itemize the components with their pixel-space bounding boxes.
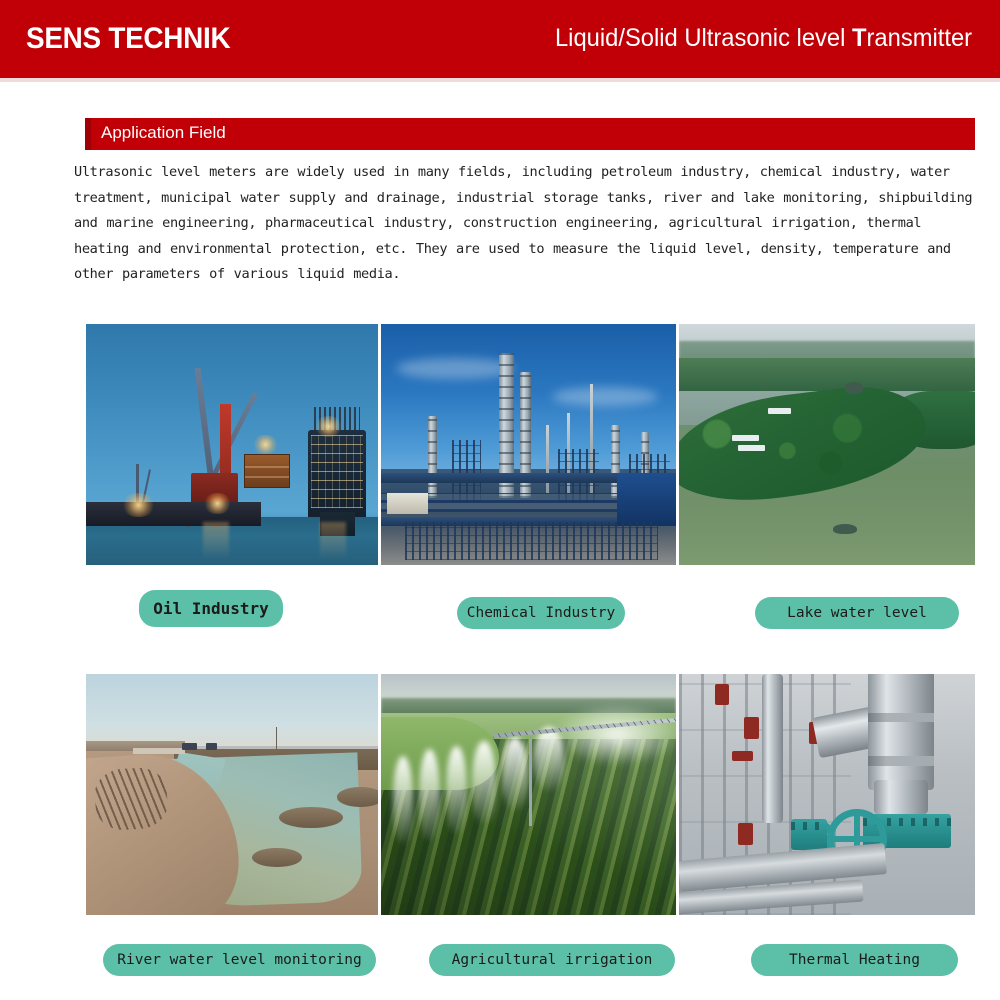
oil-platform-lights xyxy=(311,435,362,508)
oil-light-glow-4 xyxy=(314,416,343,438)
caption-pill-thermal-heating: Thermal Heating xyxy=(751,944,958,976)
caption-pill-river-monitoring: River water level monitoring xyxy=(103,944,376,976)
thermal-vertical-pipe xyxy=(762,674,783,823)
lake-boat-1 xyxy=(768,408,792,414)
caption-pill-agricultural-irrigation: Agricultural irrigation xyxy=(429,944,675,976)
chemical-refinery-photo xyxy=(381,324,676,565)
lake-aerial-photo xyxy=(679,324,975,565)
irrigation-mist-cloud xyxy=(552,703,676,766)
oil-lifted-module xyxy=(244,454,291,488)
lake-islet xyxy=(845,382,863,394)
caption-pill-lake-water-level: Lake water level xyxy=(755,597,959,629)
header-bottom-rule xyxy=(0,78,1000,82)
oil-water-reflection-1 xyxy=(203,522,229,561)
thermal-reducer xyxy=(874,780,927,814)
lake-small-vessel xyxy=(833,524,857,534)
refinery-white-tank xyxy=(387,493,428,515)
oil-light-glow-2 xyxy=(203,493,232,515)
thermal-pipe-band-1 xyxy=(868,713,933,723)
oil-platform-structure xyxy=(308,430,366,517)
irrigation-spray-1 xyxy=(393,756,414,843)
thermal-valve-body-small xyxy=(791,819,827,850)
page-title-bold-letter: T xyxy=(852,24,867,52)
refinery-blue-building xyxy=(617,473,676,526)
caption-pill-oil-industry: Oil Industry xyxy=(139,590,283,627)
oil-light-glow-1 xyxy=(121,493,156,517)
irrigation-pivot-leg xyxy=(529,739,532,826)
refinery-cloud-2 xyxy=(552,387,658,406)
page-root: SENS TECHNIK Liquid/Solid Ultrasonic lev… xyxy=(0,0,1000,1000)
thermal-heating-pipes-photo xyxy=(679,674,975,915)
thermal-red-valve-4 xyxy=(738,823,753,845)
river-vehicle-2 xyxy=(206,743,218,750)
thermal-red-valve-1 xyxy=(715,684,730,706)
oil-barge-hull xyxy=(86,502,261,526)
river-utility-pole xyxy=(276,727,277,749)
section-bar-accent xyxy=(85,118,91,150)
river-sandbar-1 xyxy=(279,807,343,829)
thermal-pipe-band-2 xyxy=(868,756,933,766)
page-title-suffix: ransmitter xyxy=(866,24,972,52)
oil-water-reflection-2 xyxy=(320,522,346,561)
river-sandbar-2 xyxy=(252,848,302,867)
irrigation-spray-4 xyxy=(472,741,496,823)
thermal-red-valve-2 xyxy=(744,717,759,739)
application-field-paragraph: Ultrasonic level meters are widely used … xyxy=(74,160,984,288)
lake-boat-3 xyxy=(738,445,765,451)
river-vehicle-1 xyxy=(182,743,197,750)
center-pivot-irrigation-photo xyxy=(381,674,676,915)
section-title: Application Field xyxy=(101,123,226,143)
refinery-column-3 xyxy=(428,416,437,498)
oil-light-glow-3 xyxy=(252,435,278,454)
refinery-ground-structures xyxy=(405,522,659,561)
river-sky xyxy=(86,674,378,746)
thermal-red-label xyxy=(732,751,753,761)
irrigation-spray-3 xyxy=(446,746,467,833)
irrigation-spray-2 xyxy=(419,749,440,841)
page-title: Liquid/Solid Ultrasonic level Transmitte… xyxy=(555,24,972,53)
caption-pill-chemical-industry: Chemical Industry xyxy=(457,597,625,629)
thermal-main-riser xyxy=(868,674,933,790)
section-header-bar: Application Field xyxy=(85,118,975,150)
irrigation-spray-5 xyxy=(502,737,529,809)
brand-logo-text: SENS TECHNIK xyxy=(26,22,230,56)
page-title-prefix: Liquid/Solid Ultrasonic level xyxy=(555,24,852,52)
lake-boat-2 xyxy=(732,435,759,441)
river-bridge xyxy=(133,748,186,754)
river-sandbar-3 xyxy=(337,787,378,806)
offshore-oil-platform-photo xyxy=(86,324,378,565)
arid-river-canal-photo xyxy=(86,674,378,915)
